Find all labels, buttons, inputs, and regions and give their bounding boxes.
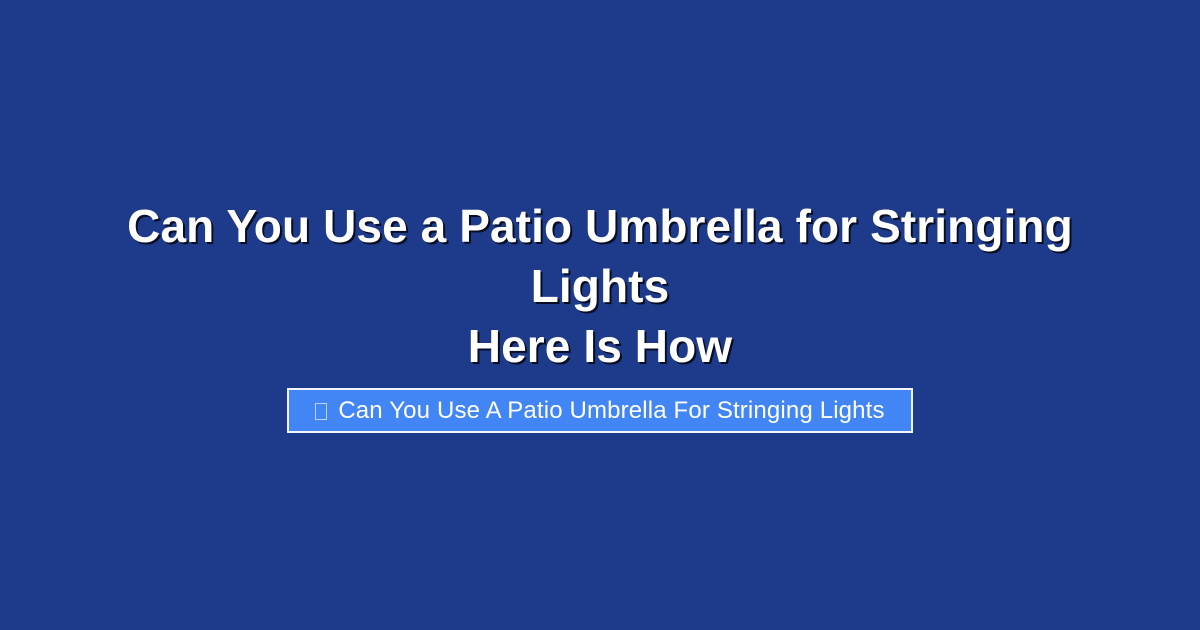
og-image-card: Can You Use a Patio Umbrella for Stringi… <box>0 0 1200 630</box>
missing-glyph-box-icon <box>315 403 327 420</box>
cta-button[interactable]: Can You Use A Patio Umbrella For Stringi… <box>287 388 912 433</box>
page-title: Can You Use a Patio Umbrella for Stringi… <box>55 196 1145 376</box>
cta-button-label: Can You Use A Patio Umbrella For Stringi… <box>338 399 884 423</box>
cta-container: Can You Use A Patio Umbrella For Stringi… <box>0 388 1200 433</box>
headline-container: Can You Use a Patio Umbrella for Stringi… <box>50 196 1150 376</box>
